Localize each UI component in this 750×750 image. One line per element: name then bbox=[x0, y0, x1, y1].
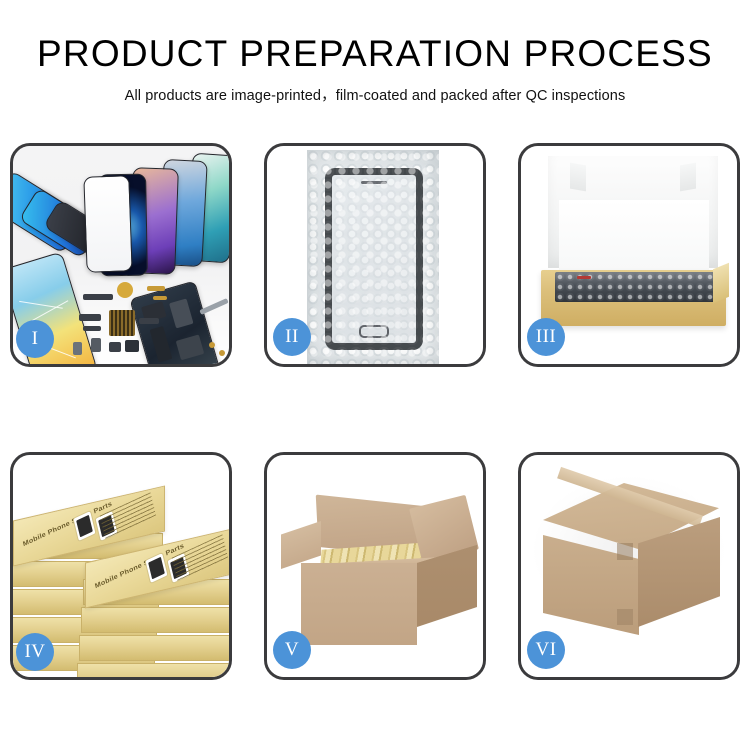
part-connector-strip bbox=[83, 294, 113, 300]
page-title: PRODUCT PREPARATION PROCESS bbox=[0, 32, 750, 76]
phone-white-blank bbox=[83, 175, 132, 273]
carton-edge-tab-top bbox=[617, 543, 633, 560]
step-badge-1: I bbox=[16, 320, 54, 358]
box-flap-right bbox=[713, 263, 729, 303]
part-button bbox=[109, 342, 121, 352]
lid-tab-left bbox=[570, 163, 586, 192]
step-panel-4: Mobile Phone Spare Parts Mobile Phone Sp… bbox=[10, 452, 232, 680]
step-badge-6: VI bbox=[527, 631, 565, 669]
header: PRODUCT PREPARATION PROCESS All products… bbox=[0, 32, 750, 105]
part-cable-left bbox=[79, 314, 101, 321]
part-flex-gold-2 bbox=[153, 296, 167, 300]
box-label-spec-lines bbox=[172, 534, 229, 581]
carton-edge-tab-bottom bbox=[617, 609, 633, 625]
part-cable-left-2 bbox=[83, 326, 101, 331]
carton-front-face bbox=[301, 563, 417, 645]
process-steps-grid: I II bbox=[10, 143, 740, 680]
part-screw-set bbox=[209, 342, 215, 348]
step-panel-6: VI bbox=[518, 452, 740, 680]
part-small-square bbox=[91, 338, 101, 352]
product-preparation-infographic: PRODUCT PREPARATION PROCESS All products… bbox=[0, 0, 750, 750]
step-panel-5: V bbox=[264, 452, 486, 680]
part-sim-tray bbox=[73, 342, 82, 355]
foam-padding bbox=[559, 200, 709, 272]
part-camera-module bbox=[125, 340, 139, 352]
part-chip-array bbox=[109, 310, 135, 336]
box-label-spec-lines bbox=[100, 492, 157, 539]
step-badge-4: IV bbox=[16, 633, 54, 671]
stacked-box bbox=[79, 635, 229, 661]
lid-tab-right bbox=[680, 163, 696, 192]
step-badge-3: III bbox=[527, 318, 565, 356]
part-bracket bbox=[139, 318, 159, 324]
part-flex-gold bbox=[147, 286, 165, 291]
bubble-wrap-overlay bbox=[307, 150, 439, 364]
step-panel-1: I bbox=[10, 143, 232, 367]
stacked-box bbox=[81, 607, 229, 633]
step-badge-5: V bbox=[273, 631, 311, 669]
step-panel-3: III bbox=[518, 143, 740, 367]
part-speaker-round bbox=[117, 282, 133, 298]
screen-red-marker bbox=[577, 276, 591, 279]
page-subtitle: All products are image-printed，film-coat… bbox=[0, 84, 750, 105]
step-badge-2: II bbox=[273, 318, 311, 356]
part-screw-set-2 bbox=[219, 350, 225, 356]
step-panel-2: II bbox=[264, 143, 486, 367]
stacked-box bbox=[77, 663, 229, 677]
